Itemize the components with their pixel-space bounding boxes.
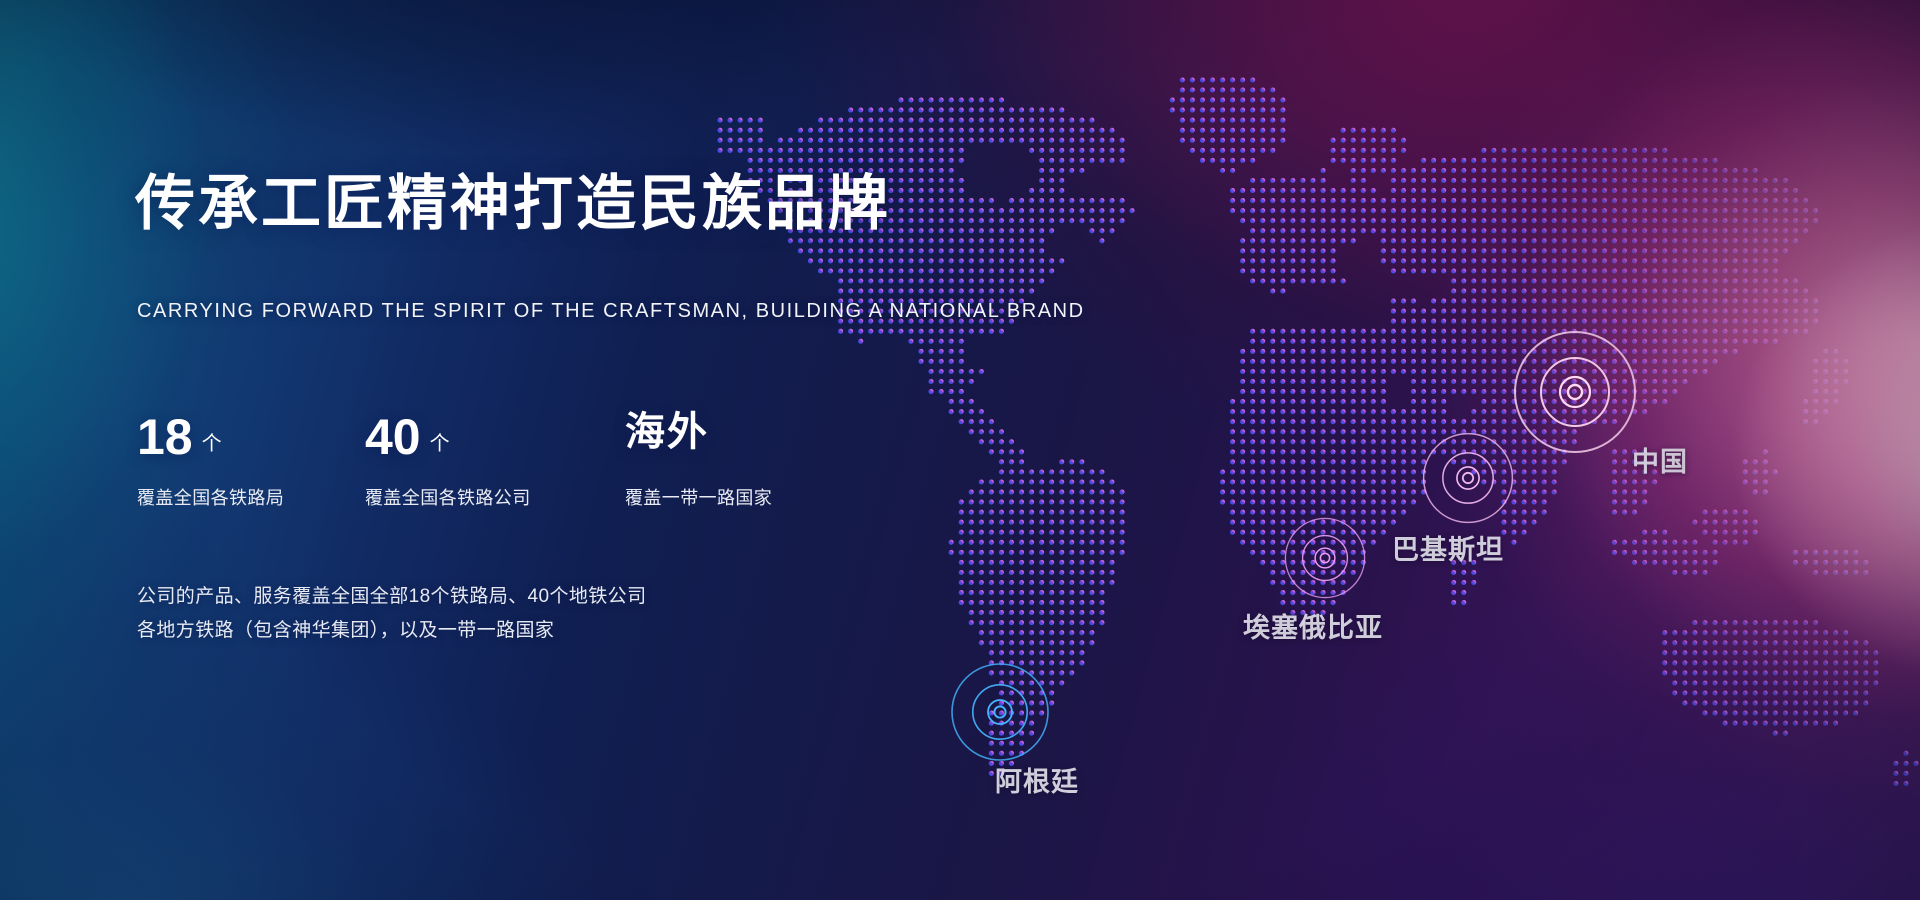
description-paragraph: 公司的产品、服务覆盖全国全部18个铁路局、40个地铁公司各地方铁路（包含神华集团… xyxy=(137,580,646,648)
page-subtitle: CARRYING FORWARD THE SPIRIT OF THE CRAFT… xyxy=(137,300,1085,323)
page-title: 传承工匠精神打造民族品牌 xyxy=(135,172,891,235)
stat-unit: 个 xyxy=(202,427,222,456)
hero-banner: 中国巴基斯坦埃塞俄比亚阿根廷 传承工匠精神打造民族品牌 CARRYING FOR… xyxy=(0,0,1920,900)
stat-value: 18 xyxy=(137,412,193,462)
stat-item-1: 18个覆盖全国各铁路局 xyxy=(137,412,284,510)
stat-caption: 覆盖全国各铁路局 xyxy=(137,484,284,510)
description-line-1: 公司的产品、服务覆盖全国全部18个铁路局、40个地铁公司 xyxy=(137,580,646,614)
stat-unit: 个 xyxy=(430,427,450,456)
stat-value: 海外 xyxy=(625,412,709,452)
stat-caption: 覆盖全国各铁路公司 xyxy=(365,484,531,510)
stat-item-2: 40个覆盖全国各铁路公司 xyxy=(365,412,531,510)
description-line-2: 各地方铁路（包含神华集团），以及一带一路国家 xyxy=(137,614,646,648)
stat-value: 40 xyxy=(365,412,421,462)
stat-caption: 覆盖一带一路国家 xyxy=(625,484,772,510)
stats-row: 18个覆盖全国各铁路局40个覆盖全国各铁路公司海外覆盖一带一路国家 xyxy=(137,412,877,522)
hero-content: 传承工匠精神打造民族品牌 CARRYING FORWARD THE SPIRIT… xyxy=(135,0,1095,900)
stat-item-3: 海外覆盖一带一路国家 xyxy=(625,412,772,510)
